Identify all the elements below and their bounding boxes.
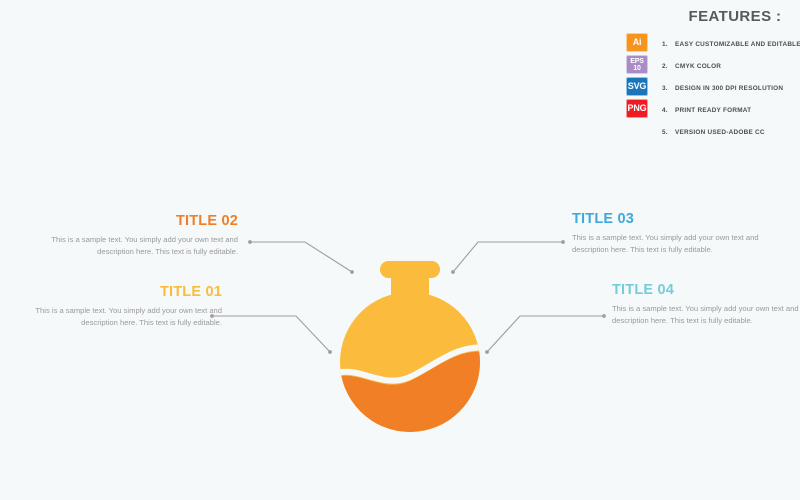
callout-04: TITLE 04 This is a sample text. You simp… [612,283,800,328]
callout-02-title: TITLE 02 [38,214,238,229]
callout-01: TITLE 01 This is a sample text. You simp… [22,285,222,330]
connector-line-04 [487,316,604,352]
callout-02-description: This is a sample text. You simply add yo… [38,234,238,259]
infographic-canvas: FEATURES : Ai EPS 10 SVG PNG 1. [0,0,800,500]
connector-dot [561,240,565,244]
callout-02: TITLE 02 This is a sample text. You simp… [38,214,238,259]
callout-03-description: This is a sample text. You simply add yo… [572,232,772,257]
callout-01-title: TITLE 01 [22,285,222,300]
science-flask-graphic [330,240,490,440]
callout-04-title: TITLE 04 [612,283,800,298]
callout-03-title: TITLE 03 [572,212,772,227]
flask-rim [380,261,440,278]
connector-line-01 [212,316,330,352]
callout-04-description: This is a sample text. You simply add yo… [612,303,800,328]
connector-dot [248,240,252,244]
callout-03: TITLE 03 This is a sample text. You simp… [572,212,772,257]
connector-dot [602,314,606,318]
callout-01-description: This is a sample text. You simply add yo… [22,305,222,330]
